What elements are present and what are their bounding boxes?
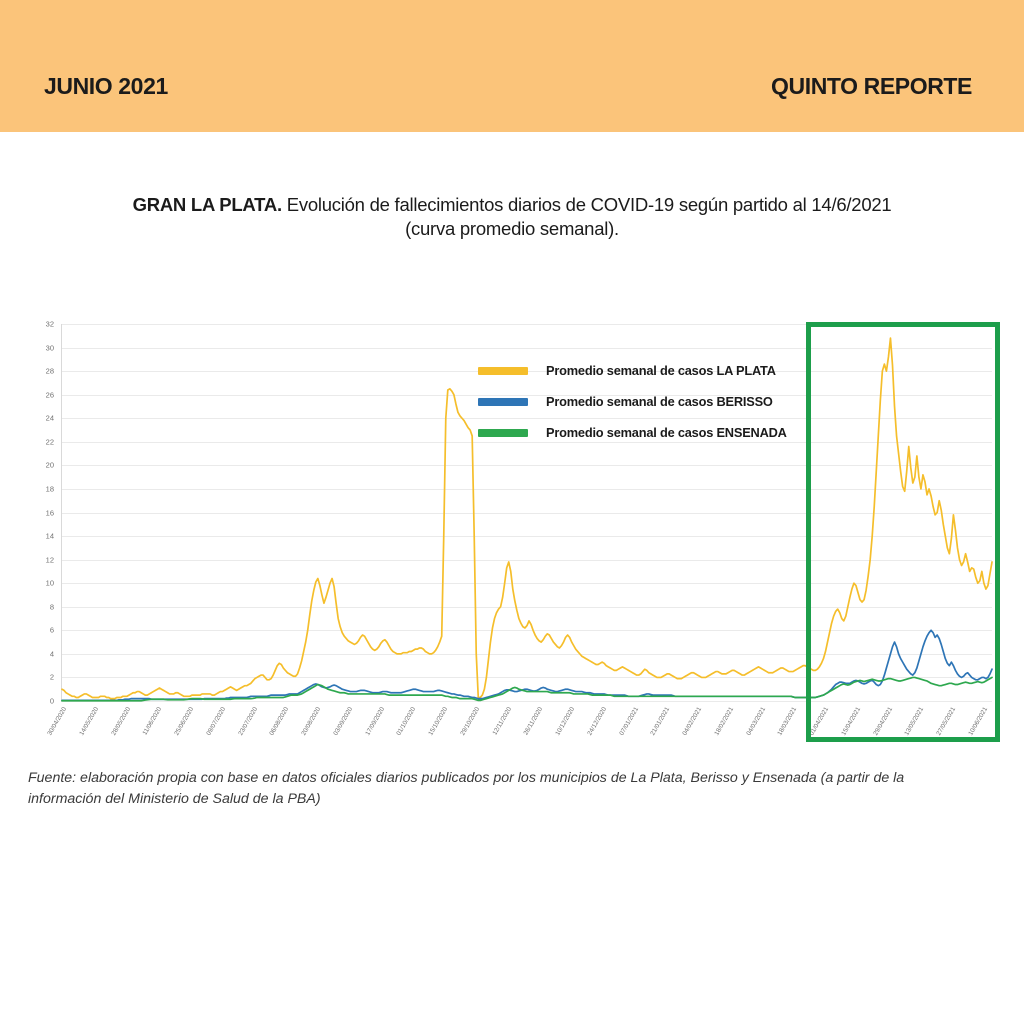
- x-axis-tick-label: 15/10/2020: [427, 706, 449, 737]
- x-axis-tick-label: 13/05/2021: [904, 706, 926, 737]
- series-line-berisso: [62, 630, 992, 700]
- x-axis-tick-label: 29/04/2021: [872, 706, 894, 737]
- x-axis-tick-label: 24/12/2020: [586, 706, 608, 737]
- x-axis-tick-label: 15/04/2021: [840, 706, 862, 737]
- header-report-label: QUINTO REPORTE: [771, 73, 972, 100]
- x-axis-tick-label: 01/10/2020: [396, 706, 418, 737]
- chart-title-block: GRAN LA PLATA. Evolución de fallecimient…: [0, 193, 1024, 242]
- legend-label-ensenada: Promedio semanal de casos ENSENADA: [546, 425, 787, 440]
- x-axis-tick-label: 03/09/2020: [332, 706, 354, 737]
- y-axis-tick-label: 30: [28, 343, 54, 352]
- legend-label-la-plata: Promedio semanal de casos LA PLATA: [546, 363, 776, 378]
- x-axis-tick-label: 01/04/2021: [808, 706, 830, 737]
- chart-title-rest: Evolución de fallecimientos diarios de C…: [282, 194, 892, 215]
- x-axis-tick-label: 12/11/2020: [491, 706, 513, 736]
- x-axis-tick-label: 10/12/2020: [554, 706, 576, 737]
- legend-label-berisso: Promedio semanal de casos BERISSO: [546, 394, 773, 409]
- x-axis-tick-label: 29/10/2020: [459, 706, 481, 737]
- y-axis-tick-label: 18: [28, 484, 54, 493]
- legend-item-ensenada: Promedio semanal de casos ENSENADA: [478, 417, 838, 448]
- x-axis-tick-label: 17/09/2020: [364, 706, 386, 737]
- chart-legend: Promedio semanal de casos LA PLATA Prome…: [478, 355, 838, 448]
- y-axis-tick-label: 16: [28, 508, 54, 517]
- x-axis-tick-label: 04/03/2021: [745, 706, 767, 737]
- x-axis-tick-label: 04/02/2021: [681, 706, 703, 737]
- x-axis-tick-label: 11/06/2020: [142, 706, 164, 736]
- x-axis-tick-label: 20/08/2020: [300, 706, 322, 737]
- x-axis-tick-label: 07/01/2021: [618, 706, 640, 737]
- legend-swatch-ensenada: [478, 429, 528, 437]
- y-axis-tick-label: 22: [28, 437, 54, 446]
- y-axis-tick-label: 6: [28, 626, 54, 635]
- chart-container: 02468101214161820222426283032 30/04/2020…: [28, 310, 1008, 760]
- gridline: [62, 701, 992, 702]
- x-axis-tick-label: 06/08/2020: [269, 706, 291, 737]
- legend-swatch-berisso: [478, 398, 528, 406]
- y-axis-tick-label: 0: [28, 697, 54, 706]
- x-axis-tick-label: 25/06/2020: [173, 706, 195, 737]
- x-axis-tick-label: 10/06/2021: [967, 706, 989, 737]
- legend-swatch-la-plata: [478, 367, 528, 375]
- x-axis-tick-label: 23/07/2020: [237, 706, 259, 737]
- y-axis-tick-label: 8: [28, 602, 54, 611]
- y-axis-tick-label: 24: [28, 414, 54, 423]
- y-axis-tick-label: 26: [28, 390, 54, 399]
- x-axis-tick-label: 21/01/2021: [650, 706, 672, 737]
- x-axis-tick-label: 09/07/2020: [205, 706, 227, 737]
- source-note: Fuente: elaboración propia con base en d…: [28, 768, 978, 811]
- report-page: JUNIO 2021 QUINTO REPORTE GRAN LA PLATA.…: [0, 0, 1024, 1024]
- y-axis-tick-label: 4: [28, 649, 54, 658]
- x-axis-tick-label: 14/05/2020: [78, 706, 100, 737]
- x-axis-tick-label: 18/03/2021: [777, 706, 799, 737]
- footer: FaHCE UNIVERSIDAD NACIONAL DE LA PLATA I…: [0, 915, 1024, 1024]
- y-axis-tick-label: 32: [28, 320, 54, 329]
- header-month-label: JUNIO 2021: [44, 73, 168, 100]
- chart-title-emphasis: GRAN LA PLATA.: [133, 194, 282, 215]
- x-axis-tick-label: 27/05/2021: [935, 706, 957, 737]
- x-axis-tick-label: 18/02/2021: [713, 706, 735, 737]
- legend-item-berisso: Promedio semanal de casos BERISSO: [478, 386, 838, 417]
- x-axis-tick-label: 28/05/2020: [110, 706, 132, 737]
- y-axis-tick-label: 20: [28, 461, 54, 470]
- legend-item-la-plata: Promedio semanal de casos LA PLATA: [478, 355, 838, 386]
- y-axis-tick-label: 10: [28, 579, 54, 588]
- y-axis-tick-label: 28: [28, 367, 54, 376]
- x-axis-tick-label: 26/11/2020: [523, 706, 545, 736]
- header-bar: JUNIO 2021 QUINTO REPORTE: [0, 0, 1024, 132]
- chart-title-line-2: (curva promedio semanal).: [55, 217, 969, 241]
- x-axis-tick-label: 30/04/2020: [46, 706, 68, 737]
- chart-title-line-1: GRAN LA PLATA. Evolución de fallecimient…: [55, 193, 969, 217]
- y-axis-tick-label: 12: [28, 555, 54, 564]
- y-axis-tick-label: 14: [28, 532, 54, 541]
- y-axis-tick-label: 2: [28, 673, 54, 682]
